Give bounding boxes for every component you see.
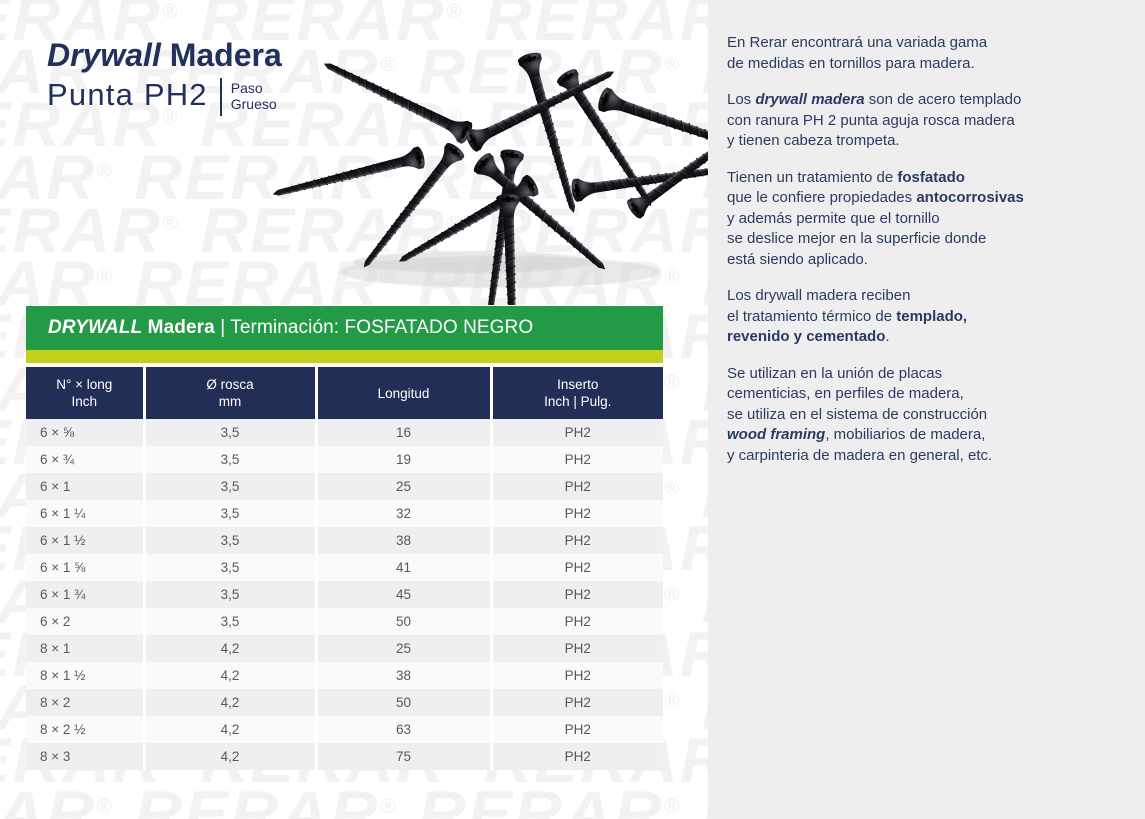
cell-numero-x-long: 6 × 2 — [26, 608, 144, 635]
table-row: 6 × 23,550PH2 — [26, 608, 663, 635]
paragraph-text: cementicias, en perfiles de madera, — [727, 385, 964, 402]
table-row: 6 × ⅝3,516PH2 — [26, 419, 663, 446]
paragraph-text: son de acero templado — [865, 91, 1022, 108]
product-title-block: Drywall Madera Punta PH2 Paso Grueso — [47, 36, 282, 116]
paragraph-text: y carpinteria de madera en general, etc. — [727, 447, 992, 464]
cell-inserto: PH2 — [491, 527, 663, 554]
product-title-punta-ph2: Punta PH2 — [47, 76, 208, 114]
col-head-line2: mm — [219, 394, 242, 409]
paragraph-emphasis: fosfatado — [897, 169, 965, 186]
cell-numero-x-long: 6 × 1 ⅝ — [26, 554, 144, 581]
column-header-numero-x-long: N° × long Inch — [26, 367, 144, 419]
cell-inserto: PH2 — [491, 500, 663, 527]
cell-numero-x-long: 8 × 1 — [26, 635, 144, 662]
cell-inserto: PH2 — [491, 689, 663, 716]
table-row: 8 × 2 ½4,263PH2 — [26, 716, 663, 743]
table-row: 8 × 14,225PH2 — [26, 635, 663, 662]
spec-table-grid: N° × long Inch Ø rosca mm Longitud Inser… — [26, 367, 663, 770]
cell-longitud: 50 — [316, 608, 491, 635]
cell-inserto: PH2 — [491, 662, 663, 689]
paragraph-emphasis: wood framing — [727, 426, 825, 443]
cell-inserto: PH2 — [491, 446, 663, 473]
cell-inserto: PH2 — [491, 635, 663, 662]
title-divider — [220, 78, 222, 116]
paragraph-emphasis: antocorrosivas — [916, 189, 1024, 206]
paragraph-text: se deslice mejor en la superficie donde — [727, 230, 986, 247]
table-row: 6 × ¾3,519PH2 — [26, 446, 663, 473]
cell-diametro-rosca: 3,5 — [144, 500, 316, 527]
cell-inserto: PH2 — [491, 419, 663, 446]
paragraph-text: está siendo aplicado. — [727, 251, 868, 268]
cell-longitud: 41 — [316, 554, 491, 581]
paragraph-text: En Rerar encontrará una variada gama — [727, 34, 987, 51]
paragraph-text: y además permite que el tornillo — [727, 210, 940, 227]
cell-longitud: 75 — [316, 743, 491, 770]
table-row: 6 × 1 ¾3,545PH2 — [26, 581, 663, 608]
cell-longitud: 19 — [316, 446, 491, 473]
description-paragraph: En Rerar encontrará una variada gamade m… — [727, 33, 1119, 74]
cell-diametro-rosca: 3,5 — [144, 581, 316, 608]
paragraph-text: que le confiere propiedades — [727, 189, 916, 206]
table-row: 8 × 1 ½4,238PH2 — [26, 662, 663, 689]
table-row: 6 × 13,525PH2 — [26, 473, 663, 500]
cell-numero-x-long: 8 × 1 ½ — [26, 662, 144, 689]
table-title-drywall: DRYWALL — [48, 317, 142, 338]
cell-diametro-rosca: 3,5 — [144, 473, 316, 500]
product-description-panel: En Rerar encontrará una variada gamade m… — [708, 0, 1145, 819]
cell-diametro-rosca: 4,2 — [144, 716, 316, 743]
table-title-bar: DRYWALL Madera | Terminación: FOSFATADO … — [26, 306, 663, 350]
product-title-madera: Madera — [161, 37, 282, 73]
cell-numero-x-long: 8 × 2 — [26, 689, 144, 716]
table-accent-bar — [26, 350, 663, 363]
cell-numero-x-long: 6 × 1 ¼ — [26, 500, 144, 527]
table-title-finish: | Terminación: FOSFATADO NEGRO — [215, 317, 533, 338]
table-title-text: DRYWALL Madera | Terminación: FOSFATADO … — [48, 317, 533, 339]
paragraph-emphasis: drywall madera — [755, 91, 864, 108]
cell-numero-x-long: 6 × ¾ — [26, 446, 144, 473]
specifications-table: DRYWALL Madera | Terminación: FOSFATADO … — [26, 306, 663, 770]
cell-longitud: 38 — [316, 662, 491, 689]
col-head-line1: Ø rosca — [206, 377, 253, 392]
cell-inserto: PH2 — [491, 743, 663, 770]
paragraph-text: se utiliza en el sistema de construcción — [727, 406, 987, 423]
description-paragraph: Tienen un tratamiento de fosfatadoque le… — [727, 168, 1119, 271]
cell-diametro-rosca: 3,5 — [144, 608, 316, 635]
paragraph-text: . — [885, 328, 889, 345]
table-row: 6 × 1 ¼3,532PH2 — [26, 500, 663, 527]
cell-longitud: 25 — [316, 635, 491, 662]
cell-longitud: 50 — [316, 689, 491, 716]
cell-numero-x-long: 6 × ⅝ — [26, 419, 144, 446]
col-head-line1: Inserto — [557, 377, 598, 392]
product-spec-sheet: RERAR® RERAR® RERAR® RERAR® RERAR® RERAR… — [0, 0, 1145, 819]
screws-product-photo — [268, 40, 718, 305]
column-header-diametro-rosca: Ø rosca mm — [144, 367, 316, 419]
cell-longitud: 38 — [316, 527, 491, 554]
paragraph-text: de medidas en tornillos para madera. — [727, 55, 975, 72]
paragraph-text: , mobiliarios de madera, — [825, 426, 985, 443]
cell-inserto: PH2 — [491, 608, 663, 635]
cell-longitud: 45 — [316, 581, 491, 608]
paragraph-text: Tienen un tratamiento de — [727, 169, 897, 186]
table-row: 6 × 1 ½3,538PH2 — [26, 527, 663, 554]
paragraph-text: y tienen cabeza trompeta. — [727, 132, 900, 149]
cell-longitud: 63 — [316, 716, 491, 743]
product-title-drywall: Drywall — [47, 37, 161, 73]
cell-numero-x-long: 6 × 1 ½ — [26, 527, 144, 554]
cell-diametro-rosca: 4,2 — [144, 689, 316, 716]
cell-diametro-rosca: 3,5 — [144, 446, 316, 473]
cell-longitud: 25 — [316, 473, 491, 500]
col-head-line2: Inch | Pulg. — [544, 394, 611, 409]
description-paragraph: Se utilizan en la unión de placascementi… — [727, 364, 1119, 467]
col-head-line1: Longitud — [378, 386, 430, 401]
cell-diametro-rosca: 4,2 — [144, 635, 316, 662]
subtitle-line-1: Paso — [231, 80, 263, 96]
col-head-line1: N° × long — [56, 377, 112, 392]
table-row: 6 × 1 ⅝3,541PH2 — [26, 554, 663, 581]
product-title-subtitle: Paso Grueso — [231, 76, 277, 112]
col-head-line2: Inch — [71, 394, 97, 409]
product-title-secondary-row: Punta PH2 Paso Grueso — [47, 76, 282, 116]
cell-inserto: PH2 — [491, 716, 663, 743]
cell-numero-x-long: 6 × 1 — [26, 473, 144, 500]
paragraph-text: Los — [727, 91, 755, 108]
left-content-column: Drywall Madera Punta PH2 Paso Grueso — [0, 0, 708, 819]
cell-diametro-rosca: 3,5 — [144, 554, 316, 581]
cell-diametro-rosca: 3,5 — [144, 527, 316, 554]
table-row: 8 × 24,250PH2 — [26, 689, 663, 716]
spec-table-header-row: N° × long Inch Ø rosca mm Longitud Inser… — [26, 367, 663, 419]
description-paragraph: Los drywall madera son de acero templado… — [727, 90, 1119, 152]
cell-longitud: 32 — [316, 500, 491, 527]
cell-diametro-rosca: 4,2 — [144, 743, 316, 770]
paragraph-text: Los drywall madera reciben — [727, 287, 910, 304]
subtitle-line-2: Grueso — [231, 96, 277, 112]
column-header-longitud: Longitud — [316, 367, 491, 419]
cell-inserto: PH2 — [491, 581, 663, 608]
spec-table-body: 6 × ⅝3,516PH26 × ¾3,519PH26 × 13,525PH26… — [26, 419, 663, 770]
cell-longitud: 16 — [316, 419, 491, 446]
cell-numero-x-long: 8 × 2 ½ — [26, 716, 144, 743]
cell-diametro-rosca: 4,2 — [144, 662, 316, 689]
description-paragraph: Los drywall madera recibenel tratamiento… — [727, 286, 1119, 348]
paragraph-text: con ranura PH 2 punta aguja rosca madera — [727, 112, 1015, 129]
cell-diametro-rosca: 3,5 — [144, 419, 316, 446]
paragraph-text: el tratamiento térmico de — [727, 308, 896, 325]
cell-numero-x-long: 6 × 1 ¾ — [26, 581, 144, 608]
product-title-primary: Drywall Madera — [47, 36, 282, 74]
table-row: 8 × 34,275PH2 — [26, 743, 663, 770]
spec-table-head: N° × long Inch Ø rosca mm Longitud Inser… — [26, 367, 663, 419]
paragraph-emphasis: templado, — [896, 308, 967, 325]
cell-inserto: PH2 — [491, 473, 663, 500]
cell-inserto: PH2 — [491, 554, 663, 581]
paragraph-emphasis: revenido y cementado — [727, 328, 885, 345]
column-header-inserto: Inserto Inch | Pulg. — [491, 367, 663, 419]
paragraph-text: Se utilizan en la unión de placas — [727, 365, 942, 382]
table-title-madera: Madera — [142, 317, 215, 338]
cell-numero-x-long: 8 × 3 — [26, 743, 144, 770]
